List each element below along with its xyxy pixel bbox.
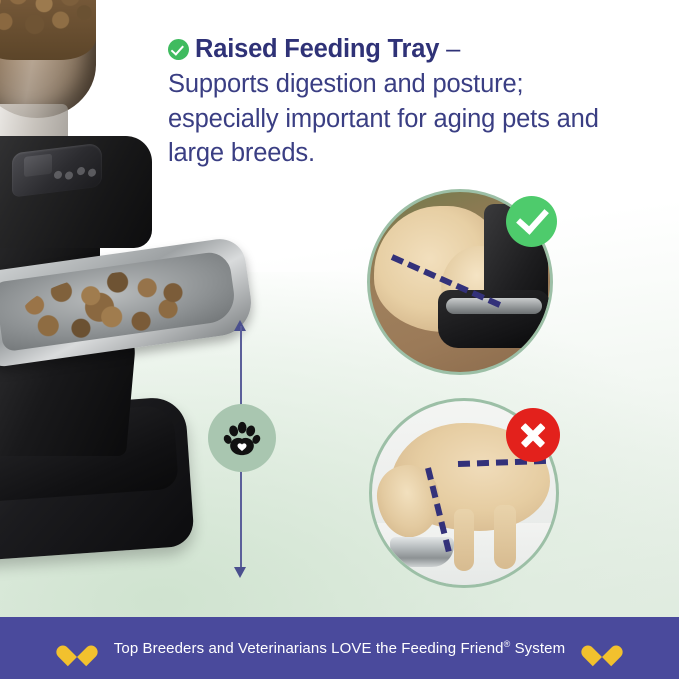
bottom-banner: Top Breeders and Veterinarians LOVE the … [0, 617, 679, 679]
headline-body-text: Supports digestion and posture; especial… [168, 67, 620, 171]
labrador-front-leg [454, 509, 474, 571]
panel-button-2[interactable] [65, 171, 73, 180]
lcd-screen-icon [24, 154, 52, 177]
heart-icon-right [589, 636, 615, 660]
feeder-hopper [0, 0, 96, 118]
banner-text-before: Top Breeders and Veterinarians LOVE the … [114, 640, 504, 657]
headline-block: Raised Feeding Tray – Supports digestion… [168, 32, 620, 171]
headline-first-line: Raised Feeding Tray – [168, 32, 620, 66]
infographic-canvas: Raised Feeding Tray – Supports digestion… [0, 0, 679, 679]
labrador-rear-leg [494, 505, 516, 569]
hopper-kibble [0, 0, 96, 60]
banner-text-after: System [510, 640, 565, 657]
page-title: Raised Feeding Tray [195, 35, 439, 63]
banner-text: Top Breeders and Veterinarians LOVE the … [114, 639, 565, 657]
check-circle-icon [168, 39, 189, 60]
heart-icon-left [64, 636, 90, 660]
paw-print-icon [222, 418, 262, 458]
panel-button-4[interactable] [88, 168, 96, 177]
panel-button-1[interactable] [54, 170, 62, 179]
feeder-body [0, 136, 152, 248]
green-check-badge [506, 196, 557, 247]
headline-dash: – [439, 35, 460, 63]
red-x-badge [506, 408, 560, 462]
feeder-control-panel[interactable] [12, 142, 102, 197]
panel-button-3[interactable] [77, 167, 85, 176]
paw-badge [208, 404, 276, 472]
arrow-down-icon [234, 567, 246, 578]
panel-buttons[interactable] [54, 164, 98, 183]
